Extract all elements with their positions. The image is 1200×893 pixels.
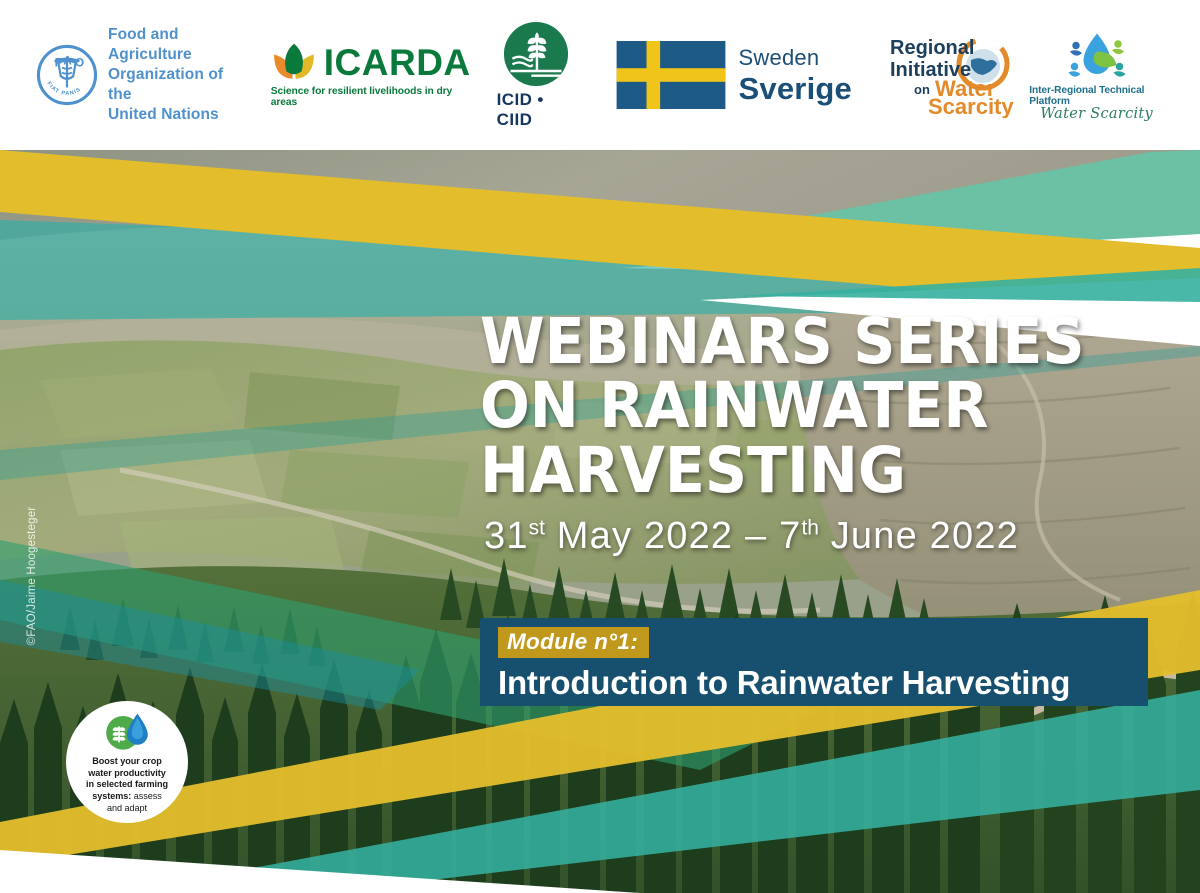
icarda-leaf-icon	[271, 42, 317, 82]
hero-banner: WEBINARS SERIES ON RAINWATER HARVESTING …	[0, 150, 1200, 893]
fao-wordmark: Food and Agriculture Organization of the…	[108, 25, 243, 124]
logo-inter-regional-technical-platform[interactable]: Inter-Regional Technical Platform Water …	[1029, 29, 1164, 122]
svg-text:O: O	[75, 56, 84, 69]
logo-fao[interactable]: F A O FIAT PANIS Food and Agriculture Or…	[36, 25, 243, 124]
page-title: WEBINARS SERIES ON RAINWATER HARVESTING	[480, 310, 1112, 503]
irtp-line-2: Water Scarcity	[1040, 106, 1153, 122]
partner-logo-bar: F A O FIAT PANIS Food and Agriculture Or…	[0, 0, 1200, 150]
icarda-wordmark: ICARDA	[324, 44, 471, 81]
fao-line-1: Food and Agriculture	[108, 25, 243, 65]
fao-line-3: United Nations	[108, 105, 243, 125]
date-start-day: 31	[484, 515, 529, 557]
svg-text:A: A	[63, 54, 72, 67]
svg-text:FIAT PANIS: FIAT PANIS	[45, 81, 82, 97]
icid-wheat-water-icon	[503, 21, 569, 87]
sweden-line-sv: Sverige	[739, 73, 852, 104]
badge-line-2: water productivity	[88, 768, 165, 778]
globe-ring-icon: Regional Initiative on Water Scarcity	[886, 32, 1021, 118]
badge-line-3: in selected farming	[86, 779, 168, 789]
icid-wordmark: ICID • CIID	[497, 90, 576, 130]
badge-line-4-thin: assess	[131, 791, 161, 801]
module-title: Introduction to Rainwater Harvesting	[498, 664, 1148, 702]
wheat-droplet-icon	[101, 712, 153, 752]
photo-credit: ©FAO/Jaime Hoogesteger	[26, 496, 38, 656]
fao-emblem-icon: F A O FIAT PANIS	[36, 44, 98, 106]
event-dates: 31st May 2022 – 7th June 2022	[484, 515, 1160, 558]
module-banner: Module n°1: Introduction to Rainwater Ha…	[480, 618, 1148, 706]
icarda-tagline: Science for resilient livelihoods in dry…	[271, 86, 471, 108]
date-middle: May 2022 –	[545, 515, 779, 557]
badge-line-5: and adapt	[107, 803, 147, 813]
project-badge[interactable]: Boost your crop water productivity in se…	[66, 701, 188, 823]
sweden-wordmark: Sweden Sverige	[739, 47, 852, 104]
date-end-day: 7	[779, 515, 801, 557]
date-end-month: June 2022	[819, 515, 1019, 557]
logo-icid[interactable]: ICID • CIID	[497, 21, 576, 130]
date-start-ordinal: st	[529, 516, 545, 539]
svg-text:F: F	[55, 56, 62, 69]
svg-text:Regional: Regional	[890, 37, 974, 59]
logo-sweden[interactable]: Sweden Sverige	[616, 41, 852, 109]
logo-icarda[interactable]: ICARDA Science for resilient livelihoods…	[271, 42, 471, 108]
badge-line-1: Boost your crop	[92, 756, 161, 766]
sweden-line-en: Sweden	[739, 47, 852, 69]
svg-text:Scarcity: Scarcity	[928, 94, 1014, 118]
irtp-line-1: Inter-Regional Technical Platform	[1029, 85, 1164, 107]
swedish-flag-icon	[616, 41, 726, 109]
date-end-ordinal: th	[801, 516, 819, 539]
module-number-tag: Module n°1:	[498, 627, 649, 658]
logo-regional-initiative-water-scarcity[interactable]: Regional Initiative on Water Scarcity	[886, 32, 1007, 118]
project-badge-text: Boost your crop water productivity in se…	[77, 756, 177, 814]
fao-line-2: Organization of the	[108, 65, 243, 105]
badge-line-4-bold: systems:	[92, 791, 131, 801]
hero-title-block: WEBINARS SERIES ON RAINWATER HARVESTING …	[480, 310, 1160, 558]
water-droplet-leaf-icon	[1061, 29, 1133, 83]
